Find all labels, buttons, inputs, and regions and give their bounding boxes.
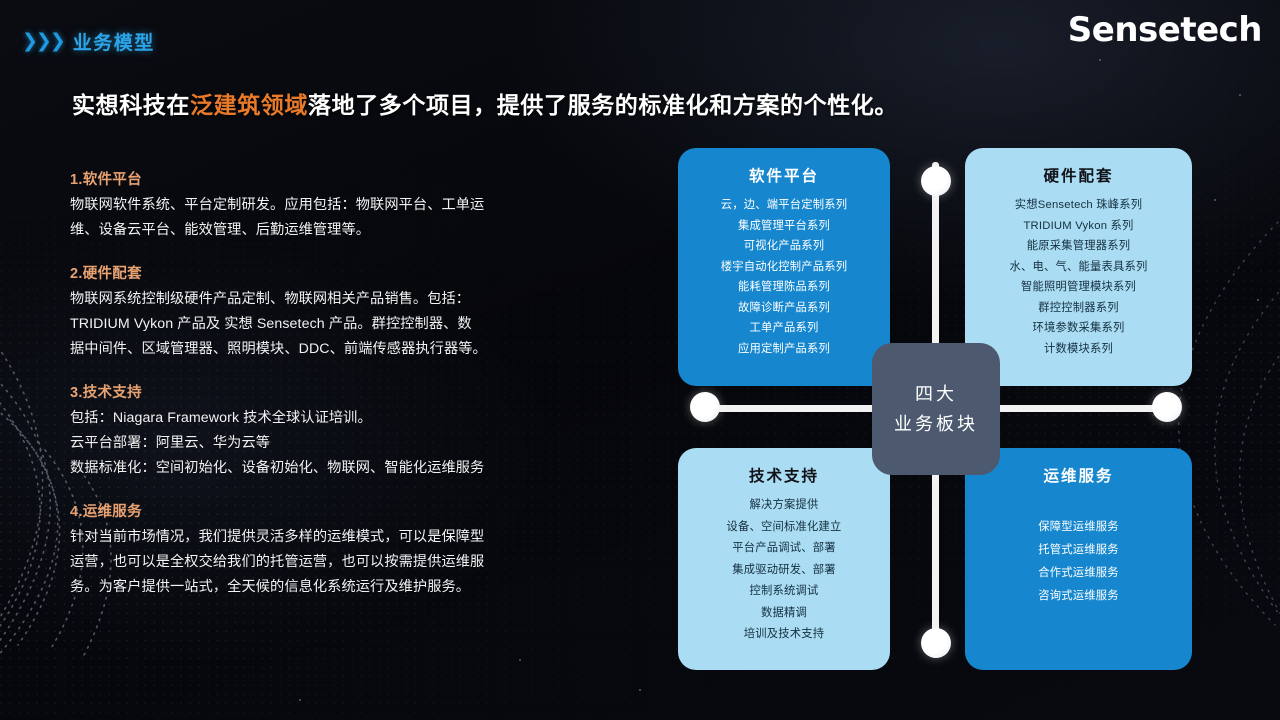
section-line: 针对当前市场情况，我们提供灵活多样的运维模式，可以是保障型 <box>70 525 560 550</box>
triple-chevron-right-icon: ❯❯❯ <box>22 32 64 51</box>
card-item: 保障型运维服务 <box>965 516 1192 539</box>
section-operations: 4.运维服务 针对当前市场情况，我们提供灵活多样的运维模式，可以是保障型 运营，… <box>70 500 560 600</box>
connector-left <box>705 405 890 412</box>
card-item: 培训及技术支持 <box>678 624 890 646</box>
card-item: 数据精调 <box>678 603 890 625</box>
card-item: 能原采集管理器系列 <box>965 236 1192 257</box>
section-line: 务。为客户提供一站式，全天候的信息化系统运行及维护服务。 <box>70 575 560 600</box>
page-title: 实想科技在泛建筑领域落地了多个项目，提供了服务的标准化和方案的个性化。 <box>72 86 898 120</box>
card-item: 环境参数采集系列 <box>965 318 1192 339</box>
card-item: 平台产品调试、部署 <box>678 538 890 560</box>
section-line: 包括：Niagara Framework 技术全球认证培训。 <box>70 406 560 431</box>
section-body: 物联网软件系统、平台定制研发。应用包括：物联网平台、工单运 维、设备云平台、能效… <box>70 193 560 243</box>
card-item: 集成驱动研发、部署 <box>678 560 890 582</box>
card-item: 托管式运维服务 <box>965 539 1192 562</box>
card-title: 技术支持 <box>678 464 890 486</box>
card-item: 可视化产品系列 <box>678 236 890 257</box>
card-hardware-support[interactable]: 硬件配套 实想Sensetech 珠峰系列 TRIDIUM Vykon 系列 能… <box>965 148 1192 386</box>
brand-logo: Sensetech <box>1068 10 1262 50</box>
card-technical-support[interactable]: 技术支持 解决方案提供 设备、空间标准化建立 平台产品调试、部署 集成驱动研发、… <box>678 448 890 670</box>
page-title-accent: 泛建筑领域 <box>190 92 308 118</box>
section-line: 物联网系统控制级硬件产品定制、物联网相关产品销售。包括： <box>70 287 560 312</box>
card-item: 故障诊断产品系列 <box>678 298 890 319</box>
connector-node-left <box>690 392 720 422</box>
section-line: 运营，也可以是全权交给我们的托管运营，也可以按需提供运维服 <box>70 550 560 575</box>
section-line: TRIDIUM Vykon 产品及 实想 Sensetech 产品。群控控制器、… <box>70 312 560 337</box>
section-title: 1.软件平台 <box>70 168 560 189</box>
connector-node-bottom <box>921 628 951 658</box>
section-body: 针对当前市场情况，我们提供灵活多样的运维模式，可以是保障型 运营，也可以是全权交… <box>70 525 560 600</box>
section-title: 3.技术支持 <box>70 381 560 402</box>
card-title: 软件平台 <box>678 164 890 186</box>
card-title: 运维服务 <box>965 464 1192 486</box>
section-line: 数据标准化：空间初始化、设备初始化、物联网、智能化运维服务 <box>70 456 560 481</box>
section-line: 维、设备云平台、能效管理、后勤运维管理等。 <box>70 218 560 243</box>
card-item: 解决方案提供 <box>678 495 890 517</box>
section-line: 据中间件、区域管理器、照明模块、DDC、前端传感器执行器等。 <box>70 337 560 362</box>
card-item: 工单产品系列 <box>678 318 890 339</box>
card-item: 群控控制器系列 <box>965 298 1192 319</box>
card-item: 设备、空间标准化建立 <box>678 517 890 539</box>
slide-canvas: ❯❯❯ 业务模型 Sensetech 实想科技在泛建筑领域落地了多个项目，提供了… <box>0 0 1280 720</box>
page-title-part2: 落地了多个项目，提供了服务的标准化和方案的个性化。 <box>308 92 898 118</box>
card-item: 应用定制产品系列 <box>678 339 890 360</box>
section-line: 云平台部署：阿里云、华为云等 <box>70 431 560 456</box>
hub-line-2: 业务板块 <box>894 409 978 439</box>
section-body: 物联网系统控制级硬件产品定制、物联网相关产品销售。包括： TRIDIUM Vyk… <box>70 287 560 362</box>
section-title: 4.运维服务 <box>70 500 560 521</box>
section-hardware: 2.硬件配套 物联网系统控制级硬件产品定制、物联网相关产品销售。包括： TRID… <box>70 262 560 362</box>
header-label: ❯❯❯ 业务模型 <box>22 28 155 55</box>
hub-line-1: 四大 <box>915 379 957 409</box>
card-item: 集成管理平台系列 <box>678 216 890 237</box>
business-segments-diagram: 软件平台 云，边、端平台定制系列 集成管理平台系列 可视化产品系列 楼宇自动化控… <box>660 140 1220 685</box>
section-line: 物联网软件系统、平台定制研发。应用包括：物联网平台、工单运 <box>70 193 560 218</box>
section-tech-support: 3.技术支持 包括：Niagara Framework 技术全球认证培训。 云平… <box>70 381 560 481</box>
section-software: 1.软件平台 物联网软件系统、平台定制研发。应用包括：物联网平台、工单运 维、设… <box>70 168 560 243</box>
card-item: 水、电、气、能量表具系列 <box>965 257 1192 278</box>
connector-right <box>982 405 1167 412</box>
card-operations-service[interactable]: 运维服务 保障型运维服务 托管式运维服务 合作式运维服务 咨询式运维服务 <box>965 448 1192 670</box>
page-title-part1: 实想科技在 <box>72 92 190 118</box>
card-item: 实想Sensetech 珠峰系列 <box>965 195 1192 216</box>
card-item: 合作式运维服务 <box>965 562 1192 585</box>
card-item: TRIDIUM Vykon 系列 <box>965 216 1192 237</box>
section-label: 业务模型 <box>73 28 155 55</box>
connector-node-top <box>921 166 951 196</box>
section-title: 2.硬件配套 <box>70 262 560 283</box>
card-item: 楼宇自动化控制产品系列 <box>678 257 890 278</box>
card-item: 能耗管理陈品系列 <box>678 277 890 298</box>
card-item: 咨询式运维服务 <box>965 585 1192 608</box>
card-title: 硬件配套 <box>965 164 1192 186</box>
diagram-center-hub: 四大 业务板块 <box>872 343 1000 475</box>
connector-node-right <box>1152 392 1182 422</box>
card-item: 智能照明管理模块系列 <box>965 277 1192 298</box>
card-item: 控制系统调试 <box>678 581 890 603</box>
card-item: 云，边、端平台定制系列 <box>678 195 890 216</box>
card-software-platform[interactable]: 软件平台 云，边、端平台定制系列 集成管理平台系列 可视化产品系列 楼宇自动化控… <box>678 148 890 386</box>
content-sections: 1.软件平台 物联网软件系统、平台定制研发。应用包括：物联网平台、工单运 维、设… <box>70 168 560 619</box>
section-body: 包括：Niagara Framework 技术全球认证培训。 云平台部署：阿里云… <box>70 406 560 481</box>
